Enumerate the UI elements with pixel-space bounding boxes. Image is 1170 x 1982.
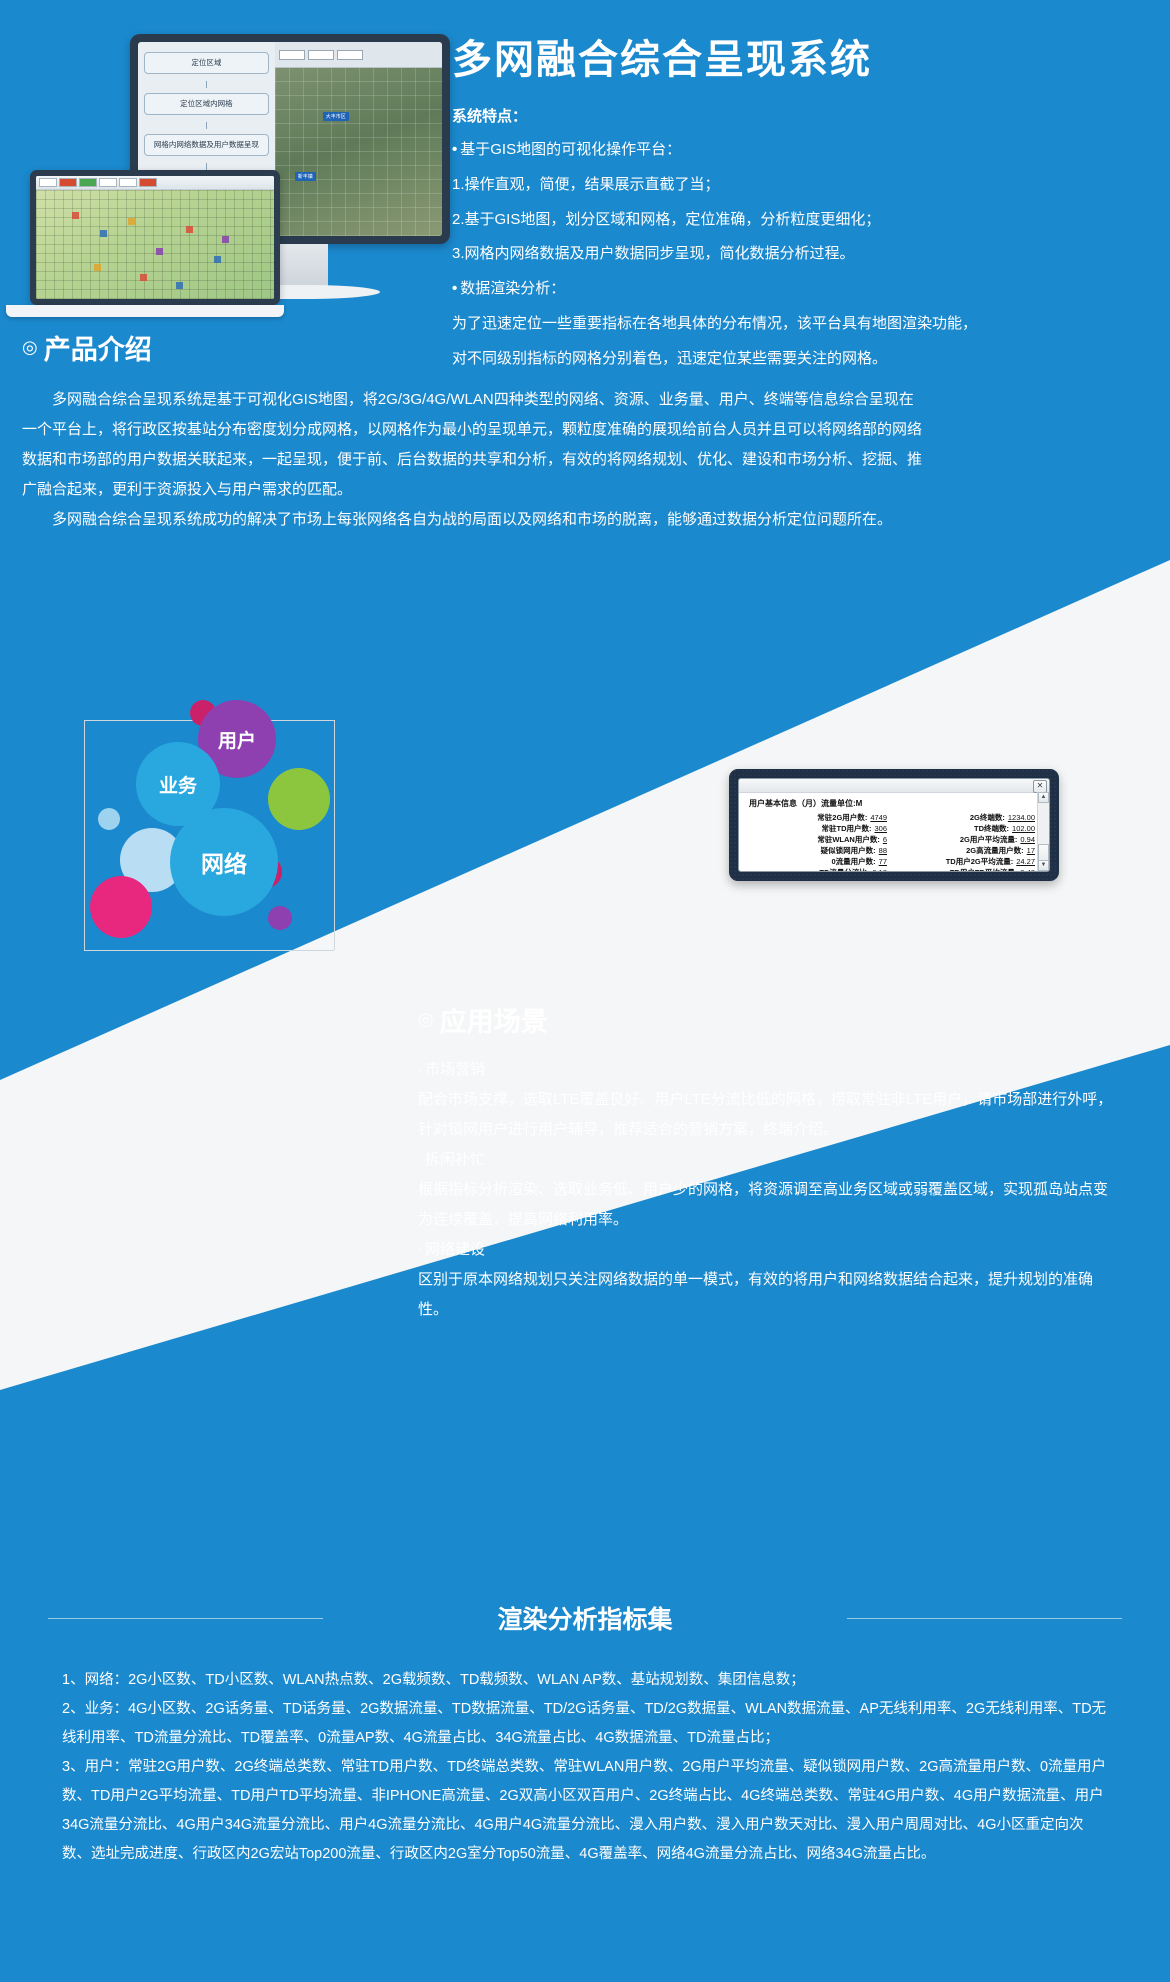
- map-grid-cell: [156, 248, 163, 255]
- metric-key: TD终端数: [974, 823, 1009, 834]
- toolbar-dropdown[interactable]: [337, 50, 363, 60]
- metric-key: 常驻2G用户数: [817, 812, 867, 823]
- metric-value[interactable]: 102.00: [1012, 823, 1035, 834]
- map-grid-cell: [186, 226, 193, 233]
- scenario-text: 区别于原本网络规划只关注网络数据的单一模式，有效的将用户和网络数据结合起来，提升…: [418, 1265, 1118, 1325]
- metric-row: 0流量用户数77: [745, 856, 887, 867]
- bubble-lightblue-small: [98, 808, 120, 830]
- map-grid-cell: [72, 212, 79, 219]
- toolbar-button[interactable]: [119, 178, 137, 187]
- scenario-label: 拆闲补忙: [418, 1145, 1118, 1175]
- metric-key: TD流量分流比: [819, 867, 869, 872]
- metric-row: 2G终端数1234.00: [893, 812, 1035, 823]
- toolbar-button[interactable]: [139, 178, 157, 187]
- metric-value[interactable]: 0.94: [1020, 834, 1035, 845]
- metric-row: 常驻TD用户数306: [745, 823, 887, 834]
- flow-arrow-icon: [206, 81, 207, 88]
- metric-key: 2G高流量用户数: [966, 845, 1024, 856]
- toolbar-button[interactable]: [59, 178, 77, 187]
- bubble-label-network: 网络: [170, 808, 278, 916]
- product-intro-body: 多网融合综合呈现系统是基于可视化GIS地图，将2G/3G/4G/WLAN四种类型…: [22, 385, 922, 535]
- ring-icon: ◎: [22, 337, 38, 358]
- metrics-paragraph: 3、用户：常驻2G用户数、2G终端总类数、常驻TD用户数、TD终端总类数、常驻W…: [62, 1753, 1108, 1869]
- dialog-scrollbar[interactable]: ▲ ▼: [1037, 792, 1049, 871]
- dialog-title: 用户基本信息（月）流量单位:M: [739, 793, 1049, 812]
- metric-value[interactable]: 306: [874, 823, 887, 834]
- connector-line: [84, 720, 85, 950]
- metric-value[interactable]: 1234.00: [1008, 812, 1035, 823]
- hero-feature-line: 2.基于GIS地图，划分区域和网格，定位准确，分析粒度更细化；: [452, 209, 1152, 231]
- application-scenario-section: ◎ 应用场景 市场营销 配合市场支撑，选取LTE覆盖良好、用户LTE分流比低的网…: [418, 1000, 1118, 1325]
- metric-row: TD终端数102.00: [893, 823, 1035, 834]
- metric-key: 2G用户平均流量: [960, 834, 1018, 845]
- metric-key: 常驻TD用户数: [821, 823, 871, 834]
- paragraph: 多网融合综合呈现系统成功的解决了市场上每张网络各自为战的局面以及网络和市场的脱离…: [22, 505, 922, 535]
- laptop-mock: [30, 170, 280, 305]
- map-toolbar: [275, 42, 442, 68]
- laptop-base: [6, 305, 284, 317]
- metrics-body: 1、网络：2G小区数、TD小区数、WLAN热点数、2G载频数、TD载频数、WLA…: [0, 1666, 1170, 1869]
- divider-right: [847, 1618, 1122, 1619]
- ring-icon: ◎: [418, 1009, 434, 1030]
- toolbar-dropdown[interactable]: [308, 50, 334, 60]
- connector-line: [84, 950, 334, 951]
- map-grid-cell: [214, 256, 221, 263]
- metric-row: 常驻WLAN用户数6: [745, 834, 887, 845]
- dialog-metrics-grid: 常驻2G用户数4749 2G终端数1234.00 常驻TD用户数306 TD终端…: [739, 812, 1049, 872]
- metric-row: 常驻2G用户数4749: [745, 812, 887, 823]
- bubble-purple-small: [268, 906, 292, 930]
- product-intro-heading: ◎ 产品介绍: [22, 328, 922, 367]
- map-grid-cell: [100, 230, 107, 237]
- map-label: 新丰镇: [295, 172, 316, 181]
- metric-value[interactable]: 4749: [870, 812, 887, 823]
- device-mockup-group: 定位区域 定位区域内网格 网格内网络数据及用户数据呈现 数据结合分析: [20, 30, 450, 330]
- metric-value[interactable]: 0.18: [872, 867, 887, 872]
- section-title: 产品介绍: [44, 328, 152, 367]
- metric-key: 2G终端数: [970, 812, 1005, 823]
- user-basic-info-dialog[interactable]: ✕ 用户基本信息（月）流量单位:M 常驻2G用户数4749 2G终端数1234.…: [738, 778, 1050, 872]
- product-intro-section: ◎ 产品介绍 多网融合综合呈现系统是基于可视化GIS地图，将2G/3G/4G/W…: [22, 328, 922, 535]
- scenario-heading: ◎ 应用场景: [418, 1000, 1118, 1039]
- metric-key: TD用户TD平均流量: [950, 867, 1018, 872]
- bubble-green: [268, 768, 330, 830]
- metric-value[interactable]: 24.27: [1016, 856, 1035, 867]
- scroll-up-icon[interactable]: ▲: [1038, 792, 1049, 803]
- metric-key: 疑似锁网用户数: [821, 845, 876, 856]
- map-grid-cell: [140, 274, 147, 281]
- scenario-text: 配合市场支撑，选取LTE覆盖良好、用户LTE分流比低的网格，捞取常驻非LTE用户…: [418, 1085, 1118, 1145]
- scenario-body: 市场营销 配合市场支撑，选取LTE覆盖良好、用户LTE分流比低的网格，捞取常驻非…: [418, 1055, 1118, 1325]
- hero-feature-line: 1.操作直观，简便，结果展示直截了当；: [452, 174, 1152, 196]
- toolbar-button[interactable]: [99, 178, 117, 187]
- metrics-section: 渲染分析指标集 1、网络：2G小区数、TD小区数、WLAN热点数、2G载频数、T…: [0, 1600, 1170, 1869]
- scroll-down-icon[interactable]: ▼: [1038, 860, 1049, 871]
- metric-row: TD用户2G平均流量24.27: [893, 856, 1035, 867]
- metric-row: 2G高流量用户数17: [893, 845, 1035, 856]
- bubble-pink: [90, 876, 152, 938]
- section-title: 应用场景: [440, 1000, 548, 1039]
- concept-bubbles-graphic: 用户 业务 网络: [60, 690, 480, 1210]
- metric-row: TD流量分流比0.18: [745, 867, 887, 872]
- dialog-device-frame: ✕ 用户基本信息（月）流量单位:M 常驻2G用户数4749 2G终端数1234.…: [729, 769, 1059, 881]
- connector-line: [334, 720, 335, 950]
- toolbar-dropdown[interactable]: [279, 50, 305, 60]
- hero-feature-line: 3.网格内网络数据及用户数据同步呈现，简化数据分析过程。: [452, 243, 1152, 265]
- hero-feature-line: 基于GIS地图的可视化操作平台：: [452, 139, 1152, 161]
- metrics-paragraph: 1、网络：2G小区数、TD小区数、WLAN热点数、2G载频数、TD载频数、WLA…: [62, 1666, 1108, 1695]
- flow-step: 定位区域内网格: [144, 93, 269, 115]
- map-label: 大丰市区: [323, 112, 349, 121]
- paragraph: 多网融合综合呈现系统是基于可视化GIS地图，将2G/3G/4G/WLAN四种类型…: [22, 385, 922, 505]
- metrics-heading: 渲染分析指标集: [0, 1600, 1170, 1636]
- map-canvas[interactable]: 大丰市区 新丰镇: [275, 68, 442, 236]
- divider-left: [48, 1618, 323, 1619]
- metric-value[interactable]: 77: [879, 856, 887, 867]
- metric-key: 0流量用户数: [831, 856, 875, 867]
- metric-value[interactable]: 17: [1027, 845, 1035, 856]
- map-grid-cell: [94, 264, 101, 271]
- laptop-map-canvas[interactable]: [36, 190, 274, 299]
- gis-map-panel: 大丰市区 新丰镇: [275, 42, 442, 236]
- hero-subtitle: 系统特点：: [452, 106, 1152, 127]
- toolbar-button[interactable]: [39, 178, 57, 187]
- dialog-titlebar: ✕: [739, 779, 1049, 793]
- hero-feature-line: 数据渲染分析：: [452, 278, 1152, 300]
- flow-arrow-icon: [206, 122, 207, 129]
- metric-value[interactable]: 88: [879, 845, 887, 856]
- map-grid-cell: [222, 236, 229, 243]
- metrics-paragraph: 2、业务：4G小区数、2G话务量、TD话务量、2G数据流量、TD数据流量、TD/…: [62, 1695, 1108, 1753]
- metric-row: 2G用户平均流量0.94: [893, 834, 1035, 845]
- laptop-screen: [36, 176, 274, 299]
- metric-key: 常驻WLAN用户数: [817, 834, 880, 845]
- map-grid-cell: [128, 218, 135, 225]
- scenario-label: 网络建设: [418, 1235, 1118, 1265]
- metric-row: 疑似锁网用户数88: [745, 845, 887, 856]
- flow-step: 网格内网络数据及用户数据呈现: [144, 134, 269, 156]
- toolbar-button[interactable]: [79, 178, 97, 187]
- laptop-toolbar: [36, 176, 274, 190]
- metric-row: TD用户TD平均流量9.48: [893, 867, 1035, 872]
- metric-value[interactable]: 9.48: [1020, 867, 1035, 872]
- flow-step: 定位区域: [144, 52, 269, 74]
- metric-value[interactable]: 6: [883, 834, 887, 845]
- scenario-text: 根据指标分析渲染、选取业务低、用户少的网格，将资源调至高业务区域或弱覆盖区域，实…: [418, 1175, 1118, 1235]
- section-title: 渲染分析指标集: [497, 1606, 672, 1634]
- page-title: 多网融合综合呈现系统: [452, 38, 1152, 82]
- map-grid-cell: [176, 282, 183, 289]
- scenario-label: 市场营销: [418, 1055, 1118, 1085]
- metric-key: TD用户2G平均流量: [946, 856, 1014, 867]
